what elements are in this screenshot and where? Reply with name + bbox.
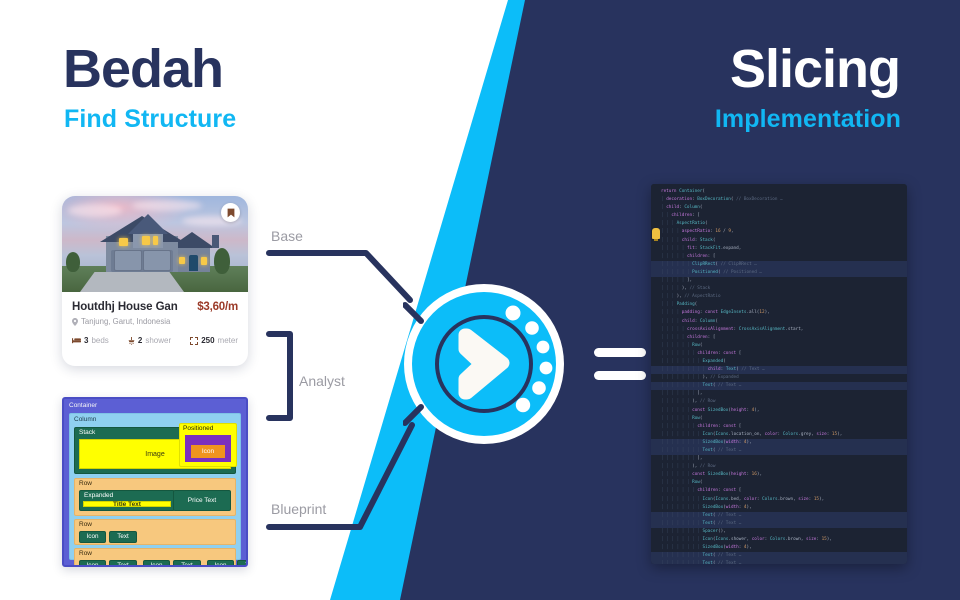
code-line[interactable]: │ │ │ │ │ children: [	[651, 253, 907, 261]
window-light	[201, 257, 207, 265]
garage-door	[143, 250, 171, 271]
blueprint-positioned-icon-chip: Icon	[191, 445, 225, 458]
code-line[interactable]: │ │ │ │ │ │ │ │ SizedBox(width: 4),	[651, 504, 907, 512]
blueprint-positioned-box: Positioned Icon	[179, 423, 237, 467]
code-line[interactable]: │ │ │ │ │ │ │ │ Text( // Text …	[651, 520, 907, 528]
blueprint-row-features: Row Icon Text Icon Text Icon Text	[74, 548, 236, 567]
tree-shape	[66, 252, 80, 272]
house-gable-roof	[128, 214, 168, 234]
property-card[interactable]: Houtdhj House Gan $3,60/m Tanjung, Garut…	[62, 196, 248, 366]
property-card-header-row: Houtdhj House Gan $3,60/m	[72, 301, 238, 313]
blueprint-row-location: Row Icon Text	[74, 519, 236, 545]
blueprint-chip-label: Text	[117, 534, 129, 540]
connector-analyst-label: Analyst	[299, 373, 345, 389]
blueprint-title-text-box: Title Text	[83, 501, 171, 507]
code-line[interactable]: │ │ │ │ │ │ Positioned( // Positioned …	[651, 269, 907, 277]
blueprint-chip-label: Icon	[215, 563, 227, 567]
code-line[interactable]: │ │ │ │ │ │ │ │ │ child: Text( // Text …	[651, 366, 907, 374]
code-line[interactable]: │ │ │ AspectRatio(	[651, 220, 907, 228]
code-line[interactable]: │ │ │ │ │ │ │ children: const [	[651, 350, 907, 358]
code-line[interactable]: │ │ children: [	[651, 212, 907, 220]
feature-beds-value: 3	[84, 336, 88, 345]
code-line[interactable]: │ │ │ │ │ │ │ │ Text( // Text …	[651, 560, 907, 564]
feature-area-label: meter	[218, 336, 238, 345]
code-line[interactable]: │ │ │ │ │ │ │ │ Icon(Icons.bed, color: C…	[651, 496, 907, 504]
blueprint-positioned-label: Positioned	[183, 426, 213, 433]
code-line[interactable]: │ │ │ │ │ │ Row(	[651, 479, 907, 487]
code-line[interactable]: │ │ │ │ │ │ │ │ Text( // Text …	[651, 512, 907, 520]
feature-area-value: 250	[201, 336, 214, 345]
blueprint-chip: Icon	[143, 560, 170, 567]
garage-door	[114, 250, 142, 271]
code-line[interactable]: │ │ │ │ │ │ const SizedBox(height: 4),	[651, 407, 907, 415]
slide-canvas: Bedah Find Structure Slicing Implementat…	[0, 0, 960, 600]
equals-bar-top	[594, 348, 646, 357]
code-line[interactable]: │ │ │ │ │ ],	[651, 277, 907, 285]
feature-beds: 3 beds	[72, 336, 109, 345]
code-line[interactable]: │ │ │ │ aspectRatio: 16 / 9,	[651, 228, 907, 236]
right-subtitle: Implementation	[715, 107, 901, 132]
code-line[interactable]: │ │ │ │ │ │ │ │ ), // Expanded	[651, 374, 907, 382]
window-light	[179, 257, 185, 264]
property-title: Houtdhj House Gan	[72, 301, 178, 313]
code-line[interactable]: │ │ │ │ │ │ │ ],	[651, 390, 907, 398]
code-line[interactable]: │ │ │ │ │ │ │ │ Text( // Text …	[651, 552, 907, 560]
driveway-shape	[80, 272, 184, 292]
code-line[interactable]: │ │ │ │ │ │ Row(	[651, 415, 907, 423]
property-price: $3,60/m	[197, 301, 238, 313]
fullscreen-icon	[190, 337, 198, 345]
blueprint-chip: Text	[237, 560, 248, 567]
cloud-shape	[132, 200, 202, 211]
blueprint-stack: Stack Image Positioned Icon	[74, 427, 236, 474]
code-lines: return Container(│ decoration: BoxDecora…	[651, 188, 907, 564]
connector-base-label: Base	[271, 228, 303, 244]
property-location-text: Tanjung, Garut, Indonesia	[81, 317, 170, 326]
feature-area: 250 meter	[190, 336, 238, 345]
code-line[interactable]: │ │ │ │ │ │ │ │ Expanded(	[651, 358, 907, 366]
code-line[interactable]: │ │ │ │ │ │ Row(	[651, 342, 907, 350]
left-title: Bedah	[63, 42, 223, 96]
property-features-row: 3 beds 2 shower	[72, 336, 238, 345]
blueprint-positioned-inner: Icon	[185, 435, 231, 462]
code-line[interactable]: │ │ │ │ │ │ │ │ Text( // Text …	[651, 382, 907, 390]
equals-symbol	[594, 348, 646, 380]
code-line[interactable]: │ │ │ │ padding: const EdgeInsets.all(12…	[651, 309, 907, 317]
code-line[interactable]: │ │ │ │ │ │ │ ],	[651, 455, 907, 463]
blueprint-price-text-box: Price Text	[173, 490, 231, 511]
code-line[interactable]: │ │ │ │ │ │ │ children: const [	[651, 487, 907, 495]
bookmark-icon	[227, 208, 235, 218]
feature-shower: 2 shower	[128, 336, 171, 345]
blueprint-positioned-icon-label: Icon	[202, 448, 214, 455]
code-editor-panel[interactable]: return Container(│ decoration: BoxDecora…	[651, 184, 907, 564]
blueprint-expanded: Expanded Title Text	[79, 490, 175, 511]
bed-icon	[72, 337, 81, 344]
blueprint-row3-label: Row	[79, 522, 92, 529]
blueprint-price-text-label: Price Text	[188, 497, 216, 504]
code-line[interactable]: │ │ │ │ │ │ │ │ Text( // Text …	[651, 447, 907, 455]
blueprint-chip-label: Text	[181, 563, 193, 567]
right-title: Slicing	[730, 42, 900, 96]
blueprint-column-label: Column	[74, 417, 96, 424]
blueprint-row-title: Row Expanded Title Text Price Text	[74, 478, 236, 516]
play-chevron-logo-icon	[403, 283, 565, 445]
equals-bar-bottom	[594, 371, 646, 380]
blueprint-chip-label: Icon	[87, 563, 99, 567]
window-light	[119, 238, 128, 246]
shower-icon	[128, 337, 135, 345]
window-light	[153, 236, 158, 245]
blueprint-title-text-label: Title Text	[113, 501, 141, 508]
code-line[interactable]: │ │ │ Padding(	[651, 301, 907, 309]
blueprint-chip-label: Text	[117, 563, 129, 567]
feature-beds-label: beds	[91, 336, 108, 345]
code-line[interactable]: │ │ │ │ │ │ │ │ Spacer(),	[651, 528, 907, 536]
code-line[interactable]: │ │ │ │ │ │ │ │ Icon(Icons.location_on, …	[651, 431, 907, 439]
feature-shower-value: 2	[138, 336, 142, 345]
blueprint-expanded-label: Expanded	[84, 493, 113, 500]
left-subtitle: Find Structure	[64, 107, 236, 132]
code-line[interactable]: │ │ │ │ │ children: [	[651, 334, 907, 342]
blueprint-row2-label: Row	[79, 481, 92, 488]
window-light	[142, 236, 150, 245]
blueprint-chip: Icon	[79, 560, 106, 567]
blueprint-chip: Text	[173, 560, 201, 567]
code-line[interactable]: │ │ │ ), // AspectRatio	[651, 293, 907, 301]
code-line[interactable]: │ │ │ │ │ crossAxisAlignment: CrossAxisA…	[651, 326, 907, 334]
blueprint-container-label: Container	[69, 403, 97, 410]
feature-shower-label: shower	[145, 336, 171, 345]
blueprint-image-label: Image	[145, 451, 164, 458]
blueprint-chip-label: Icon	[87, 534, 99, 540]
property-photo	[62, 196, 248, 292]
code-line[interactable]: │ │ │ │ │ fit: StackFit.expand,	[651, 245, 907, 253]
code-line[interactable]: │ │ │ │ child: Stack(	[651, 237, 907, 245]
code-line[interactable]: │ child: Column(	[651, 204, 907, 212]
property-card-body: Houtdhj House Gan $3,60/m Tanjung, Garut…	[62, 292, 248, 345]
play-chevron-logo[interactable]	[403, 283, 565, 445]
front-door	[189, 255, 198, 271]
location-pin-icon	[72, 318, 78, 326]
tree-shape	[214, 248, 230, 274]
blueprint-stack-label: Stack	[79, 430, 95, 437]
blueprint-chip-label: Icon	[151, 563, 163, 567]
code-line[interactable]: │ │ │ │ child: Column(	[651, 318, 907, 326]
code-line[interactable]: │ │ │ │ │ │ ClipRRect( // ClipRRect …	[651, 261, 907, 269]
code-editor-content: return Container(│ decoration: BoxDecora…	[651, 184, 907, 564]
blueprint-chip: Icon	[79, 531, 106, 543]
connector-blueprint-label: Blueprint	[271, 501, 326, 517]
chimney-shape	[212, 235, 219, 248]
blueprint-column: Column Stack Image Positioned Icon	[69, 413, 241, 560]
property-location-row: Tanjung, Garut, Indonesia	[72, 317, 238, 326]
code-line[interactable]: │ │ │ │ ), // Stack	[651, 285, 907, 293]
code-line[interactable]: │ │ │ │ │ │ ), // Row	[651, 463, 907, 471]
code-line[interactable]: │ │ │ │ │ │ ), // Row	[651, 398, 907, 406]
code-line[interactable]: return Container(	[651, 188, 907, 196]
code-line[interactable]: │ │ │ │ │ │ │ │ Icon(Icons.shower, color…	[651, 536, 907, 544]
code-line[interactable]: │ decoration: BoxDecoration( // BoxDecor…	[651, 196, 907, 204]
code-line[interactable]: │ │ │ │ │ │ │ │ SizedBox(width: 4),	[651, 544, 907, 552]
blueprint-diagram[interactable]: Container Column Stack Image Positioned …	[62, 397, 248, 567]
blueprint-chip: Text	[109, 560, 137, 567]
code-line[interactable]: │ │ │ │ │ │ │ children: const [	[651, 423, 907, 431]
blueprint-row4-label: Row	[79, 551, 92, 558]
code-line[interactable]: │ │ │ │ │ │ │ │ SizedBox(width: 4),	[651, 439, 907, 447]
bookmark-button[interactable]	[221, 203, 240, 222]
code-line[interactable]: │ │ │ │ │ │ const SizedBox(height: 16),	[651, 471, 907, 479]
blueprint-chip: Icon	[207, 560, 234, 567]
blueprint-chip: Text	[109, 531, 137, 543]
